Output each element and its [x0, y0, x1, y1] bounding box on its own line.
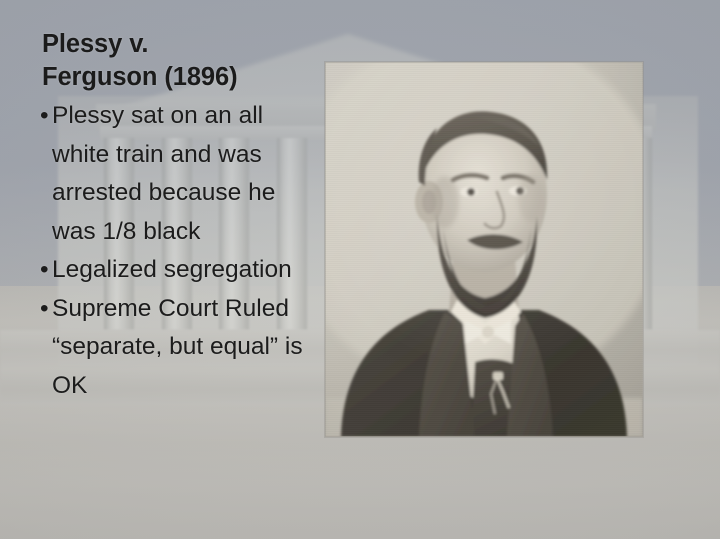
bullet-list: Plessy sat on an all white train and was…: [40, 97, 308, 405]
presentation-slide: Plessy v. Ferguson (1896) Plessy sat on …: [0, 0, 720, 539]
list-item: Plessy sat on an all white train and was…: [40, 97, 308, 251]
slide-text-column: Plessy v. Ferguson (1896) Plessy sat on …: [40, 28, 308, 405]
list-item: Legalized segregation: [40, 251, 308, 290]
portrait-illustration: [325, 62, 643, 437]
list-item: Supreme Court Ruled “separate, but equal…: [40, 290, 308, 406]
page-title: Plessy v. Ferguson (1896): [42, 28, 308, 94]
homer-plessy-portrait-image: [325, 62, 643, 437]
